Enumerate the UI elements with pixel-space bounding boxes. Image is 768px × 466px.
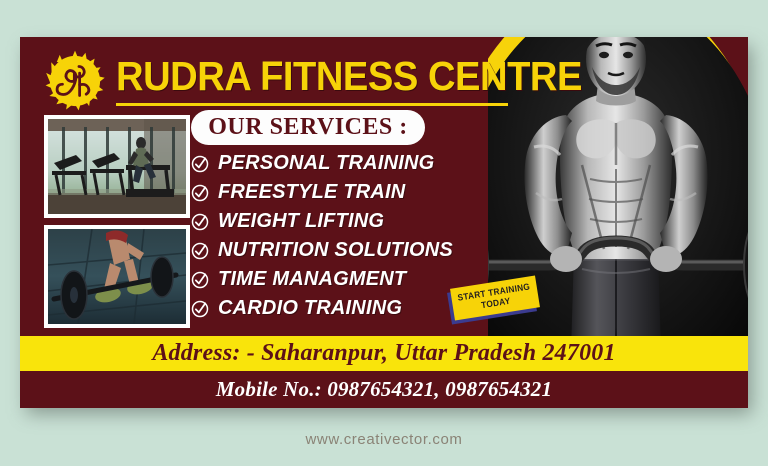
service-label: PERSONAL TRAINING [218, 152, 434, 175]
page-title: RUDRA FITNESS CENTRE [116, 53, 582, 99]
address-text: Address: - Saharanpur, Uttar Pradesh 247… [152, 340, 615, 367]
address-bar: Address: - Saharanpur, Uttar Pradesh 247… [20, 336, 748, 371]
title-underline [116, 103, 508, 106]
check-circle-icon [191, 242, 209, 260]
start-training-badge-face: START TRAINING TODAY [450, 275, 540, 320]
check-circle-icon [191, 300, 209, 318]
service-item: NUTRITION SOLUTIONS [191, 236, 521, 265]
service-item: WEIGHT LIFTING [191, 207, 521, 236]
check-circle-icon [191, 213, 209, 231]
mobile-number-text: Mobile No.: 0987654321, 0987654321 [216, 377, 552, 402]
footer-website-url[interactable]: www.creativector.com [0, 431, 768, 448]
start-training-badge[interactable]: START TRAINING TODAY [448, 282, 544, 328]
service-label: WEIGHT LIFTING [218, 210, 384, 233]
check-circle-icon [191, 184, 209, 202]
page-canvas: RUDRA FITNESS CENTRE [0, 0, 768, 466]
services-heading-label: OUR SERVICES : [208, 114, 408, 141]
service-label: NUTRITION SOLUTIONS [218, 239, 453, 262]
gym-treadmill-photo [44, 115, 190, 218]
service-item: FREESTYLE TRAIN [191, 178, 521, 207]
deadlift-barbell-photo [44, 225, 190, 328]
service-item: PERSONAL TRAINING [191, 149, 521, 178]
service-label: TIME MANAGMENT [218, 268, 406, 291]
service-label: FREESTYLE TRAIN [218, 181, 405, 204]
shri-sunburst-logo-icon [42, 48, 108, 114]
check-circle-icon [191, 155, 209, 173]
check-circle-icon [191, 271, 209, 289]
services-heading-pill: OUR SERVICES : [191, 110, 425, 145]
service-label: CARDIO TRAINING [218, 297, 402, 320]
mobile-bar: Mobile No.: 0987654321, 0987654321 [20, 371, 748, 408]
fitness-banner: RUDRA FITNESS CENTRE [20, 37, 748, 408]
